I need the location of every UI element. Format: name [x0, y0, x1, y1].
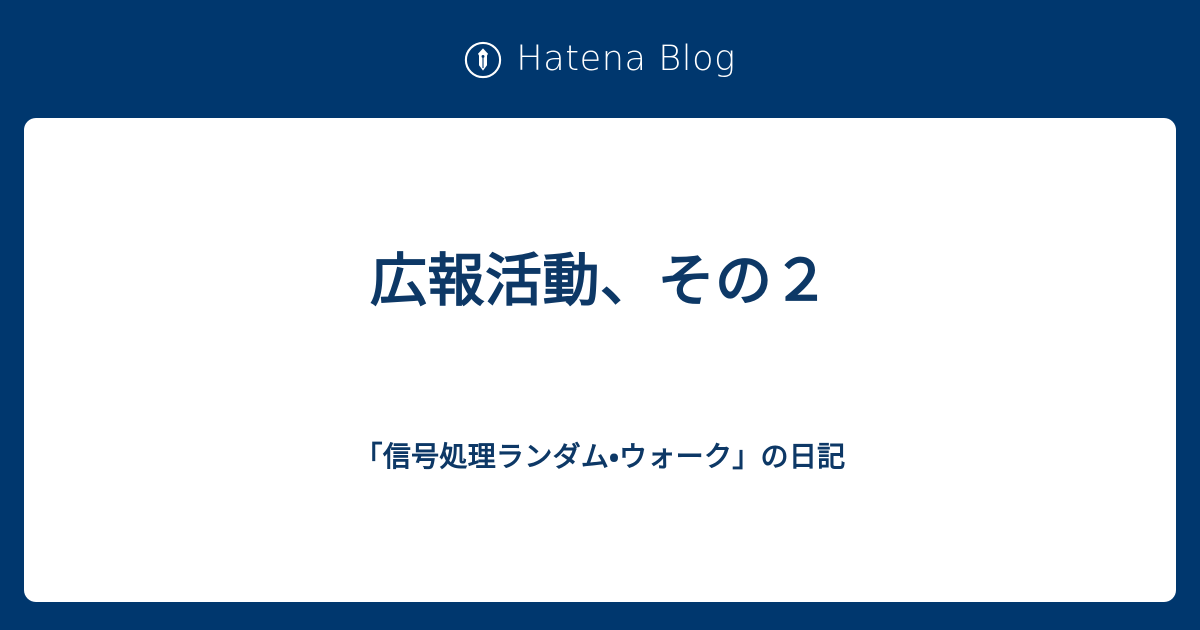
blog-subtitle: 「信号処理ランダム・ウォーク」の日記: [355, 438, 846, 476]
hatena-blog-logo: [464, 39, 502, 79]
brand-header: Hatena Blog: [0, 0, 1200, 118]
entry-title: 広報活動、その２: [370, 244, 830, 319]
ogp-card-canvas: Hatena Blog 広報活動、その２ 「信号処理ランダム・ウォーク」の日記: [0, 0, 1200, 630]
entry-card: 広報活動、その２ 「信号処理ランダム・ウォーク」の日記: [24, 118, 1176, 602]
pen-nib-icon: [464, 41, 502, 79]
entry-card-inner: 広報活動、その２ 「信号処理ランダム・ウォーク」の日記: [24, 244, 1176, 475]
card-spacer: [600, 320, 601, 438]
brand-name-label: Hatena Blog: [516, 42, 735, 77]
